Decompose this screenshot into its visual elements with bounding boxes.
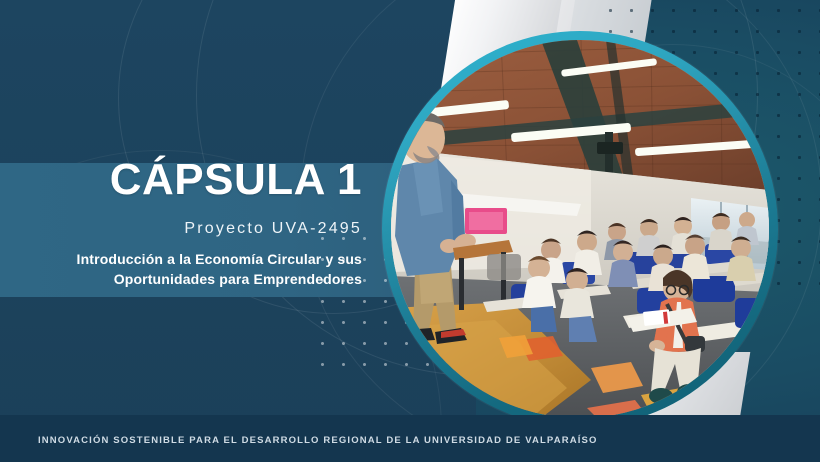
slide-subtitle: Introducción a la Economía Circular y su… xyxy=(0,249,362,290)
classroom-photo xyxy=(391,40,769,418)
presentation-slide: CÁPSULA 1 Proyecto UVA-2495 Introducción… xyxy=(0,0,820,462)
photo-circle-ring xyxy=(382,31,778,427)
footer-tagline: INNOVACIÓN SOSTENIBLE PARA EL DESARROLLO… xyxy=(38,435,598,446)
project-code: Proyecto UVA-2495 xyxy=(0,220,362,238)
page-title: CÁPSULA 1 xyxy=(0,158,362,202)
